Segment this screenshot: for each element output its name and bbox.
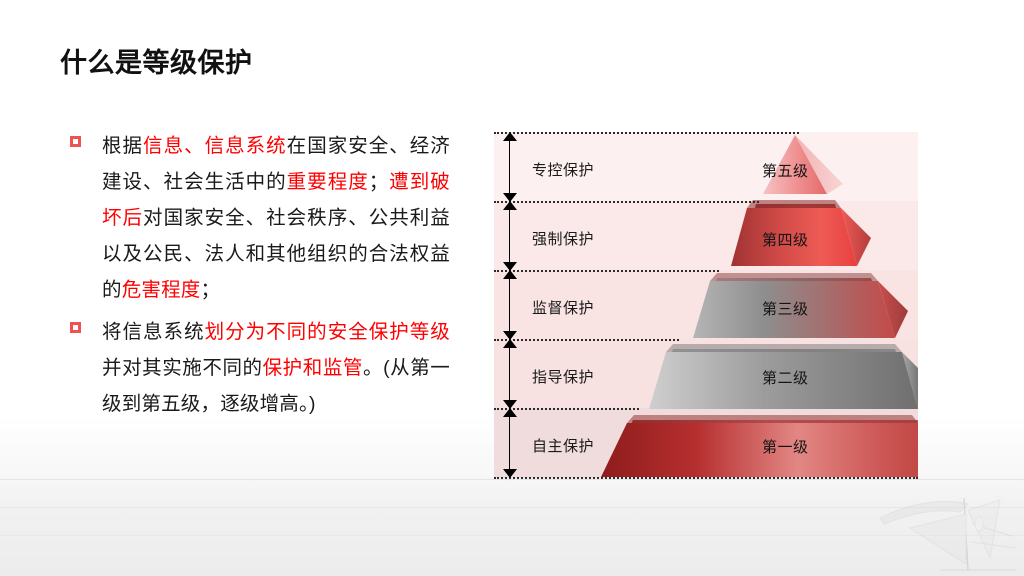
- pyramid-label-level4: 第四级: [762, 229, 809, 250]
- square-bullet-icon: [70, 136, 81, 147]
- divider-line: [494, 201, 759, 203]
- pyramid-label-level3: 第三级: [762, 298, 809, 319]
- band-label-level2: 指导保护: [532, 366, 594, 387]
- arrow-up-icon: [503, 270, 517, 279]
- pyramid-label-level5: 第五级: [762, 160, 809, 181]
- arrow-up-icon: [503, 201, 517, 210]
- text-run-highlight: 划分为不同的安全保护等级: [205, 321, 450, 343]
- text-run: ；: [201, 279, 221, 301]
- text-run-highlight: 危害程度: [122, 279, 201, 301]
- divider-line: [494, 132, 799, 134]
- text-run: 并对其实施不同的: [102, 357, 263, 379]
- list-item: 根据信息、信息系统在国家安全、经济建设、社会生活中的重要程度；遭到破坏后对国家安…: [70, 128, 450, 308]
- sailing-ship-watermark: [840, 484, 1020, 576]
- bullet-list: 根据信息、信息系统在国家安全、经济建设、社会生活中的重要程度；遭到破坏后对国家安…: [70, 128, 450, 428]
- divider-line: [494, 477, 918, 479]
- divider-line: [494, 270, 719, 272]
- pyramid-label-level2: 第二级: [762, 367, 809, 388]
- page-title: 什么是等级保护: [60, 41, 253, 80]
- band-label-level4: 强制保护: [532, 228, 594, 249]
- background-streak: [0, 479, 1024, 480]
- slide-canvas: 什么是等级保护 根据信息、信息系统在国家安全、经济建设、社会生活中的重要程度；遭…: [0, 0, 1024, 576]
- bullet-paragraph: 将信息系统划分为不同的安全保护等级并对其实施不同的保护和监管。(从第一级到第五级…: [102, 314, 450, 422]
- background-streak: [0, 507, 1024, 508]
- text-run-highlight: 信息、信息系统: [143, 135, 287, 157]
- band-label-level1: 自主保护: [532, 435, 594, 456]
- band-label-level5: 专控保护: [532, 159, 594, 180]
- text-run: ；: [369, 171, 389, 193]
- background-streak: [0, 535, 1024, 536]
- text-run-highlight: 重要程度: [287, 171, 369, 193]
- text-run: 根据: [102, 135, 143, 157]
- measure-axis: [509, 134, 510, 476]
- pyramid-label-level1: 第一级: [762, 436, 809, 457]
- arrow-up-icon: [503, 132, 517, 141]
- text-run: 将信息系统: [102, 321, 205, 343]
- square-bullet-icon: [70, 322, 81, 333]
- divider-line: [494, 339, 679, 341]
- text-run-highlight: 保护和监管: [263, 357, 363, 379]
- arrow-up-icon: [503, 408, 517, 417]
- bullet-paragraph: 根据信息、信息系统在国家安全、经济建设、社会生活中的重要程度；遭到破坏后对国家安…: [102, 128, 450, 308]
- band-label-level3: 监督保护: [532, 297, 594, 318]
- arrow-down-icon: [503, 469, 517, 478]
- list-item: 将信息系统划分为不同的安全保护等级并对其实施不同的保护和监管。(从第一级到第五级…: [70, 314, 450, 422]
- pyramid-chart: 专控保护 强制保护 监督保护 指导保护 自主保护 第五级 第四级 第三级 第二级…: [494, 132, 918, 478]
- arrow-up-icon: [503, 339, 517, 348]
